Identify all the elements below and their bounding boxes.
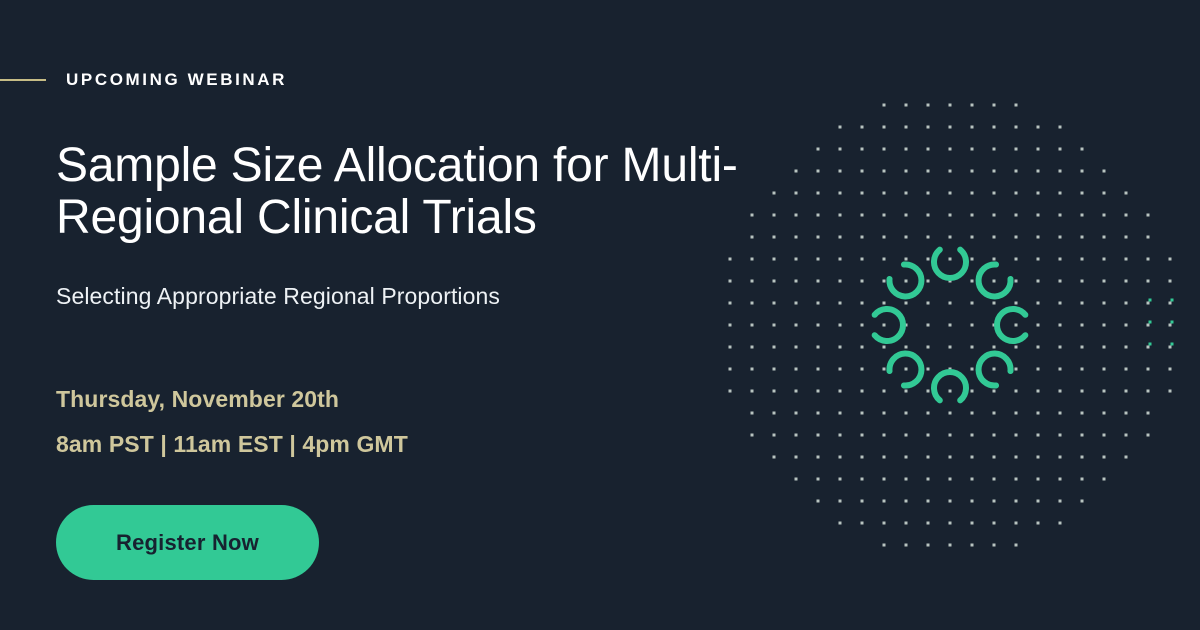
dot-grid-svg (700, 75, 1200, 575)
schedule-block: Thursday, November 20th 8am PST | 11am E… (56, 388, 408, 456)
page-subtitle: Selecting Appropriate Regional Proportio… (56, 283, 500, 310)
register-now-button[interactable]: Register Now (56, 505, 319, 580)
page-title: Sample Size Allocation for Multi-Regiona… (56, 140, 756, 245)
webinar-date: Thursday, November 20th (56, 388, 408, 411)
eyebrow: UPCOMING WEBINAR (0, 67, 287, 93)
promo-canvas: UPCOMING WEBINAR Sample Size Allocation … (0, 0, 1200, 630)
content-column: UPCOMING WEBINAR Sample Size Allocation … (56, 0, 756, 630)
arc-ring-icon (875, 250, 1026, 401)
accent-green-dots (1149, 299, 1174, 346)
decorative-dot-field (700, 75, 1200, 575)
eyebrow-label: UPCOMING WEBINAR (66, 70, 287, 90)
webinar-times: 8am PST | 11am EST | 4pm GMT (56, 433, 408, 456)
eyebrow-rule-divider (0, 79, 46, 81)
dot-grid-dots (729, 104, 1172, 547)
